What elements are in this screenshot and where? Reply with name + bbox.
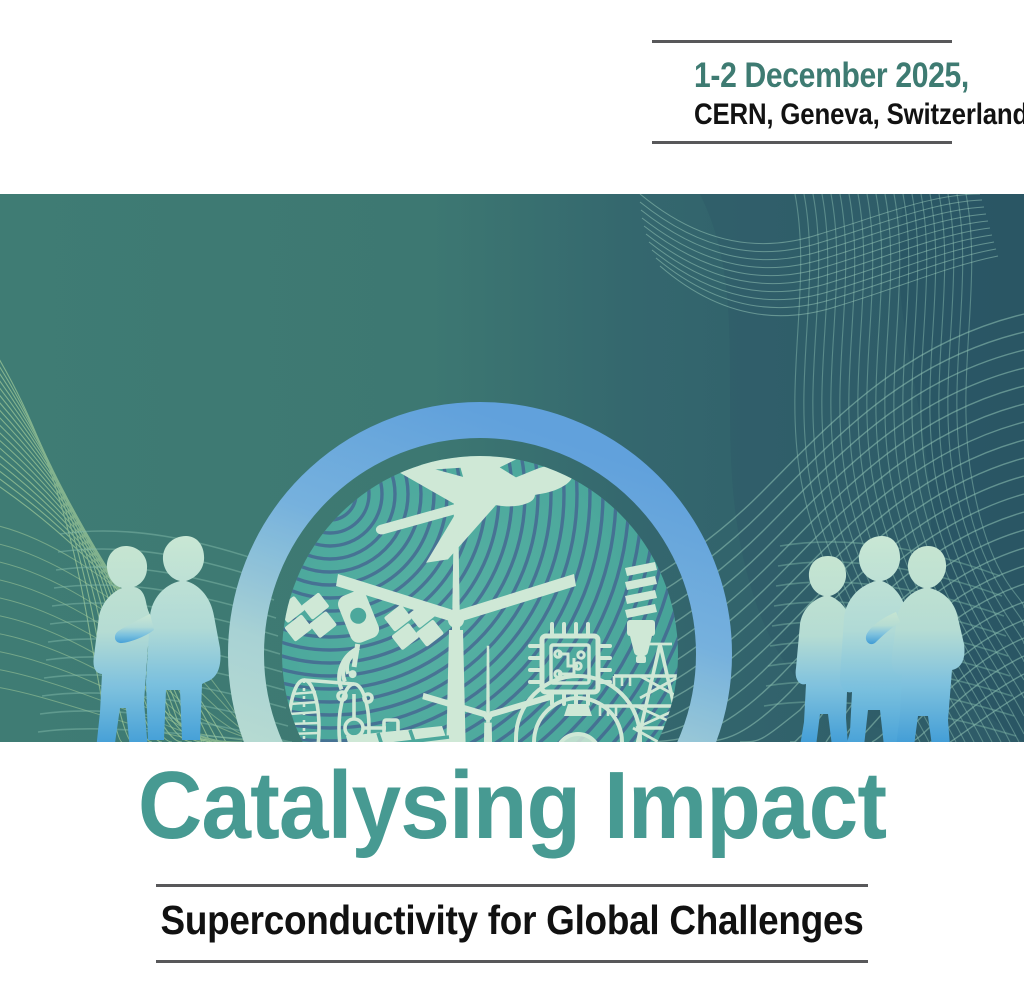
page-title: Catalysing Impact: [36, 758, 988, 854]
poster-title-block: Catalysing Impact Superconductivity for …: [0, 742, 1024, 984]
event-location: CERN, Geneva, Switzerland: [694, 98, 952, 131]
page-subtitle: Superconductivity for Global Challenges: [51, 897, 973, 944]
poster-header: 1-2 December 2025, CERN, Geneva, Switzer…: [0, 0, 1024, 194]
header-rule-top: [652, 40, 952, 43]
hero-illustration: [0, 194, 1024, 742]
grain-overlay: [0, 194, 1024, 742]
event-details-block: 1-2 December 2025, CERN, Geneva, Switzer…: [652, 40, 952, 144]
subtitle-rule-bottom: [156, 960, 868, 963]
header-rule-bottom: [652, 141, 952, 144]
subtitle-rule-top: [156, 884, 868, 887]
hero-svg: [0, 194, 1024, 742]
event-date: 1-2 December 2025,: [694, 57, 952, 94]
conference-poster: 1-2 December 2025, CERN, Geneva, Switzer…: [0, 0, 1024, 984]
